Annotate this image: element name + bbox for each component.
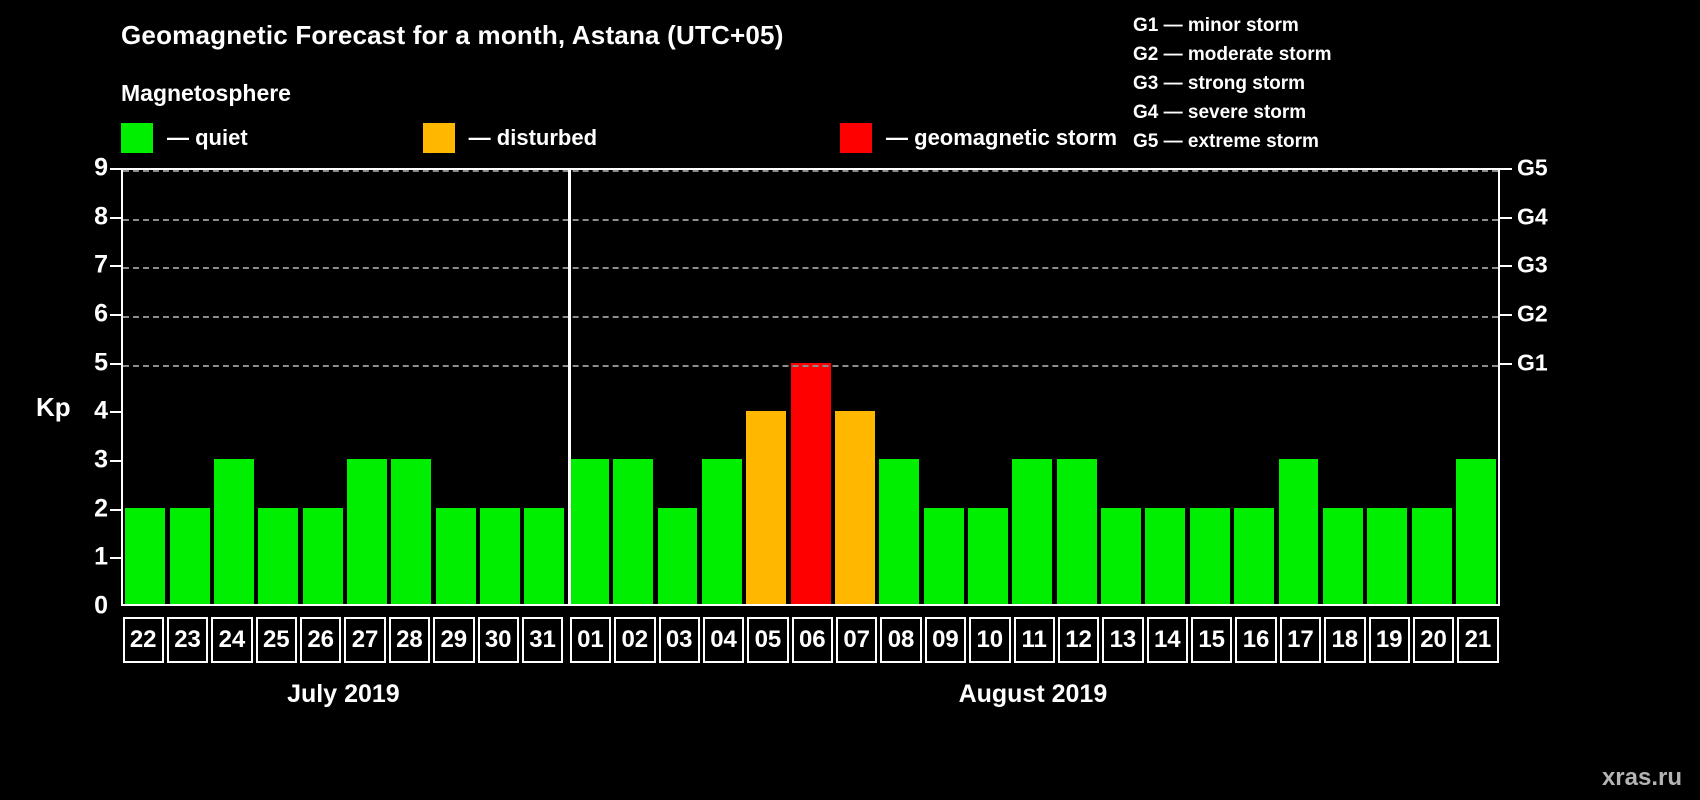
bar-slot [1276, 170, 1320, 604]
storm-scale-line-g1: G1 — minor storm [1133, 11, 1332, 40]
day-label-12[interactable]: 12 [1058, 617, 1099, 663]
bar[interactable] [835, 411, 875, 604]
bar[interactable] [347, 459, 387, 604]
gridline-kp-5 [123, 365, 1498, 367]
y-tick-mark-6 [110, 314, 121, 316]
bar[interactable] [569, 459, 609, 604]
storm-scale-legend: G1 — minor stormG2 — moderate stormG3 — … [1133, 11, 1332, 156]
gridline-kp-7 [123, 267, 1498, 269]
bar-slot [300, 170, 344, 604]
g-tick-label-g3: G3 [1517, 252, 1548, 279]
page-title: Geomagnetic Forecast for a month, Astana… [121, 20, 784, 51]
day-label-08[interactable]: 08 [880, 617, 921, 663]
bar-slot [700, 170, 744, 604]
bar[interactable] [1456, 459, 1496, 604]
storm-scale-line-g5: G5 — extreme storm [1133, 127, 1332, 156]
bar-slot [522, 170, 566, 604]
g-tick-label-g2: G2 [1517, 301, 1548, 328]
bar-slot [167, 170, 211, 604]
day-label-02[interactable]: 02 [614, 617, 655, 663]
legend-swatch-quiet [121, 123, 153, 153]
day-label-30[interactable]: 30 [478, 617, 519, 663]
legend-item-disturbed: — disturbed [423, 123, 597, 153]
month-divider [568, 170, 571, 604]
bar[interactable] [1367, 508, 1407, 604]
y-tick-label-5: 5 [94, 348, 108, 377]
y-tick-label-0: 0 [94, 592, 108, 621]
day-label-17[interactable]: 17 [1280, 617, 1321, 663]
gridline-kp-8 [123, 219, 1498, 221]
bar-slot [966, 170, 1010, 604]
bar[interactable] [1323, 508, 1363, 604]
bar[interactable] [303, 508, 343, 604]
day-label-29[interactable]: 29 [433, 617, 474, 663]
bar-slot [1409, 170, 1453, 604]
bar-slot [256, 170, 300, 604]
day-label-26[interactable]: 26 [300, 617, 341, 663]
bar-slot [611, 170, 655, 604]
bar-slot [212, 170, 256, 604]
bar[interactable] [436, 508, 476, 604]
bar[interactable] [170, 508, 210, 604]
bar-slot [655, 170, 699, 604]
legend-label-storm: — geomagnetic storm [886, 125, 1117, 151]
day-label-14[interactable]: 14 [1147, 617, 1188, 663]
bar-slot [1143, 170, 1187, 604]
bar[interactable] [968, 508, 1008, 604]
y-tick-label-3: 3 [94, 446, 108, 475]
day-label-07[interactable]: 07 [836, 617, 877, 663]
bar[interactable] [658, 508, 698, 604]
bar[interactable] [1101, 508, 1141, 604]
g-tick-mark-g2 [1500, 314, 1512, 316]
bar[interactable] [1412, 508, 1452, 604]
day-axis: 2223242526272829303101020304050607080910… [121, 617, 1500, 663]
y-tick-mark-1 [110, 557, 121, 559]
day-label-10[interactable]: 10 [969, 617, 1010, 663]
bar-slot [1321, 170, 1365, 604]
day-label-15[interactable]: 15 [1191, 617, 1232, 663]
bar[interactable] [125, 508, 165, 604]
y-axis-title: Kp [36, 392, 71, 423]
bar-slot [1232, 170, 1276, 604]
day-label-05[interactable]: 05 [747, 617, 788, 663]
bar[interactable] [1190, 508, 1230, 604]
legend-label-quiet: — quiet [167, 125, 248, 151]
day-label-24[interactable]: 24 [211, 617, 252, 663]
bar[interactable] [1145, 508, 1185, 604]
day-label-04[interactable]: 04 [703, 617, 744, 663]
bar[interactable] [258, 508, 298, 604]
day-label-18[interactable]: 18 [1324, 617, 1365, 663]
bar-series [123, 170, 1498, 604]
storm-scale-line-g4: G4 — severe storm [1133, 98, 1332, 127]
bar[interactable] [702, 459, 742, 604]
plot-inner [123, 170, 1498, 604]
bar[interactable] [524, 508, 564, 604]
month-label: July 2019 [121, 680, 566, 709]
month-label: August 2019 [566, 680, 1500, 709]
bar-slot [389, 170, 433, 604]
bar[interactable] [924, 508, 964, 604]
bar-slot [833, 170, 877, 604]
legend-label-disturbed: — disturbed [469, 125, 597, 151]
y-tick-mark-4 [110, 411, 121, 413]
bar-slot [567, 170, 611, 604]
day-label-20[interactable]: 20 [1413, 617, 1454, 663]
legend: — quiet— disturbed— geomagnetic storm [121, 123, 1117, 153]
y-tick-label-6: 6 [94, 300, 108, 329]
bar-slot [1454, 170, 1498, 604]
legend-swatch-storm [840, 123, 872, 153]
bar[interactable] [791, 363, 831, 604]
g-tick-label-g5: G5 [1517, 155, 1548, 182]
bar[interactable] [214, 459, 254, 604]
day-label-23[interactable]: 23 [167, 617, 208, 663]
bar-slot [345, 170, 389, 604]
storm-scale-line-g3: G3 — strong storm [1133, 69, 1332, 98]
day-label-21[interactable]: 21 [1457, 617, 1498, 663]
bar-slot [877, 170, 921, 604]
bar-slot [123, 170, 167, 604]
day-label-03[interactable]: 03 [659, 617, 700, 663]
day-label-09[interactable]: 09 [925, 617, 966, 663]
y-tick-label-7: 7 [94, 251, 108, 280]
y-tick-mark-7 [110, 265, 121, 267]
y-tick-label-2: 2 [94, 494, 108, 523]
bar-slot [1099, 170, 1143, 604]
g-tick-label-g4: G4 [1517, 203, 1548, 230]
watermark: xras.ru [1602, 764, 1682, 792]
legend-item-storm: — geomagnetic storm [840, 123, 1117, 153]
bar[interactable] [1279, 459, 1319, 604]
day-label-11[interactable]: 11 [1014, 617, 1055, 663]
legend-item-quiet: — quiet [121, 123, 248, 153]
bar[interactable] [613, 459, 653, 604]
bar-slot [788, 170, 832, 604]
day-label-13[interactable]: 13 [1102, 617, 1143, 663]
g-tick-mark-g5 [1500, 168, 1512, 170]
day-label-06[interactable]: 06 [792, 617, 833, 663]
bar[interactable] [746, 411, 786, 604]
g-tick-mark-g3 [1500, 265, 1512, 267]
g-tick-mark-g1 [1500, 363, 1512, 365]
day-label-01[interactable]: 01 [570, 617, 611, 663]
bar[interactable] [1057, 459, 1097, 604]
bar-slot [434, 170, 478, 604]
y-tick-label-8: 8 [94, 202, 108, 231]
storm-scale-line-g2: G2 — moderate storm [1133, 40, 1332, 69]
day-label-16[interactable]: 16 [1235, 617, 1276, 663]
day-label-19[interactable]: 19 [1369, 617, 1410, 663]
g-tick-mark-g4 [1500, 217, 1512, 219]
y-tick-mark-8 [110, 217, 121, 219]
bar[interactable] [480, 508, 520, 604]
day-label-31[interactable]: 31 [522, 617, 563, 663]
bar-slot [1365, 170, 1409, 604]
bar-slot [1055, 170, 1099, 604]
y-tick-label-9: 9 [94, 154, 108, 183]
bar-slot [478, 170, 522, 604]
day-label-27[interactable]: 27 [344, 617, 385, 663]
y-tick-label-4: 4 [94, 397, 108, 426]
bar-slot [1188, 170, 1232, 604]
bar-slot [1010, 170, 1054, 604]
gridline-kp-6 [123, 316, 1498, 318]
gridline-kp-9 [123, 170, 1498, 172]
g-tick-label-g1: G1 [1517, 349, 1548, 376]
day-label-28[interactable]: 28 [389, 617, 430, 663]
legend-heading: Magnetosphere [121, 80, 291, 107]
bar[interactable] [879, 459, 919, 604]
y-tick-mark-2 [110, 509, 121, 511]
day-label-25[interactable]: 25 [256, 617, 297, 663]
bar-slot [921, 170, 965, 604]
bar[interactable] [391, 459, 431, 604]
y-tick-mark-9 [110, 168, 121, 170]
plot-area [121, 168, 1500, 606]
bar-slot [744, 170, 788, 604]
y-tick-mark-3 [110, 460, 121, 462]
day-label-22[interactable]: 22 [123, 617, 164, 663]
legend-swatch-disturbed [423, 123, 455, 153]
bar[interactable] [1012, 459, 1052, 604]
bar[interactable] [1234, 508, 1274, 604]
y-tick-mark-5 [110, 363, 121, 365]
y-tick-label-1: 1 [94, 543, 108, 572]
